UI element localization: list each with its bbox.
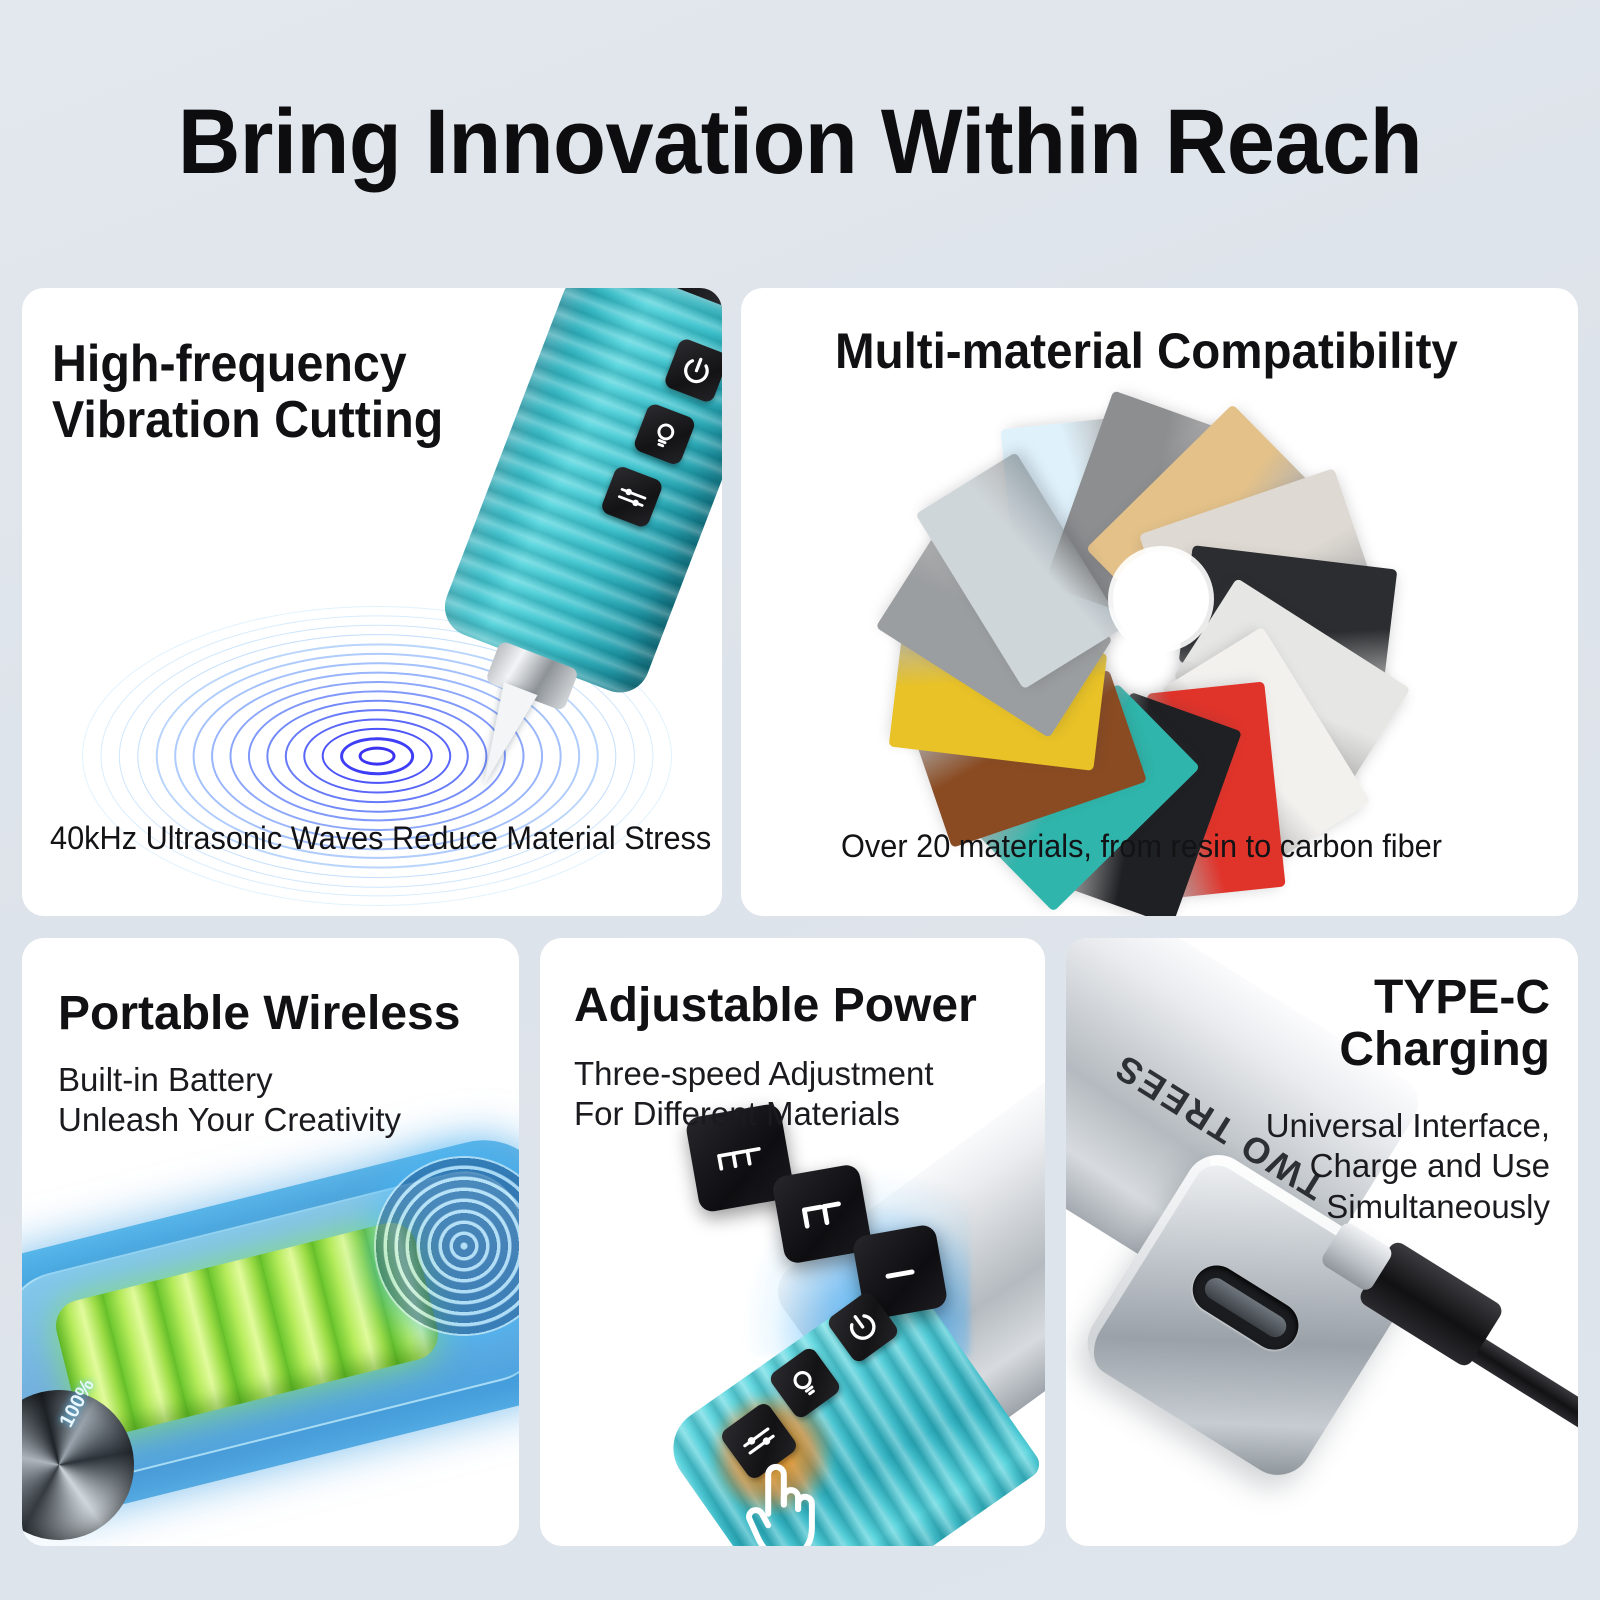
card-high-frequency-vibration[interactable]: High-frequency Vibration Cutting 40kHz U… — [22, 288, 722, 916]
card-caption-materials: Over 20 materials, from resin to carbon … — [841, 828, 1442, 865]
cutting-pen-illustration — [411, 288, 722, 767]
card-subtitle-battery: Built-in Battery Unleash Your Creativity — [58, 1060, 401, 1141]
pinwheel-center — [1113, 551, 1209, 647]
card-type-c-charging[interactable]: TWO TREES TYPE-C Charging Universal Inte… — [1066, 938, 1578, 1546]
card-multi-material-compatibility[interactable]: Multi-material Compatibility Over 20 mat… — [741, 288, 1578, 916]
hand-pointer-icon — [736, 1454, 828, 1546]
ripple-ring — [359, 747, 396, 766]
card-subtitle-power: Three-speed Adjustment For Different Mat… — [574, 1054, 934, 1135]
card-adjustable-power[interactable]: TWO TREES — [540, 938, 1045, 1546]
card-heading-vibration: High-frequency Vibration Cutting — [52, 336, 443, 448]
card-subtitle-typec: Universal Interface, Charge and Use Simu… — [1266, 1106, 1550, 1227]
card-heading-power: Adjustable Power — [574, 980, 977, 1032]
feature-card-grid: High-frequency Vibration Cutting 40kHz U… — [22, 288, 1578, 1546]
battery-xray-illustration: 100% — [22, 1134, 519, 1546]
card-portable-wireless[interactable]: 100% Portable Wireless Built-in Battery … — [22, 938, 519, 1546]
card-heading-materials: Multi-material Compatibility — [835, 324, 1458, 378]
card-heading-battery: Portable Wireless — [58, 988, 460, 1040]
material-samples-pinwheel — [891, 364, 1431, 834]
card-heading-typec: TYPE-C Charging — [1339, 972, 1550, 1076]
card-caption-vibration: 40kHz Ultrasonic Waves Reduce Material S… — [50, 820, 711, 857]
page-title: Bring Innovation Within Reach — [48, 96, 1552, 190]
